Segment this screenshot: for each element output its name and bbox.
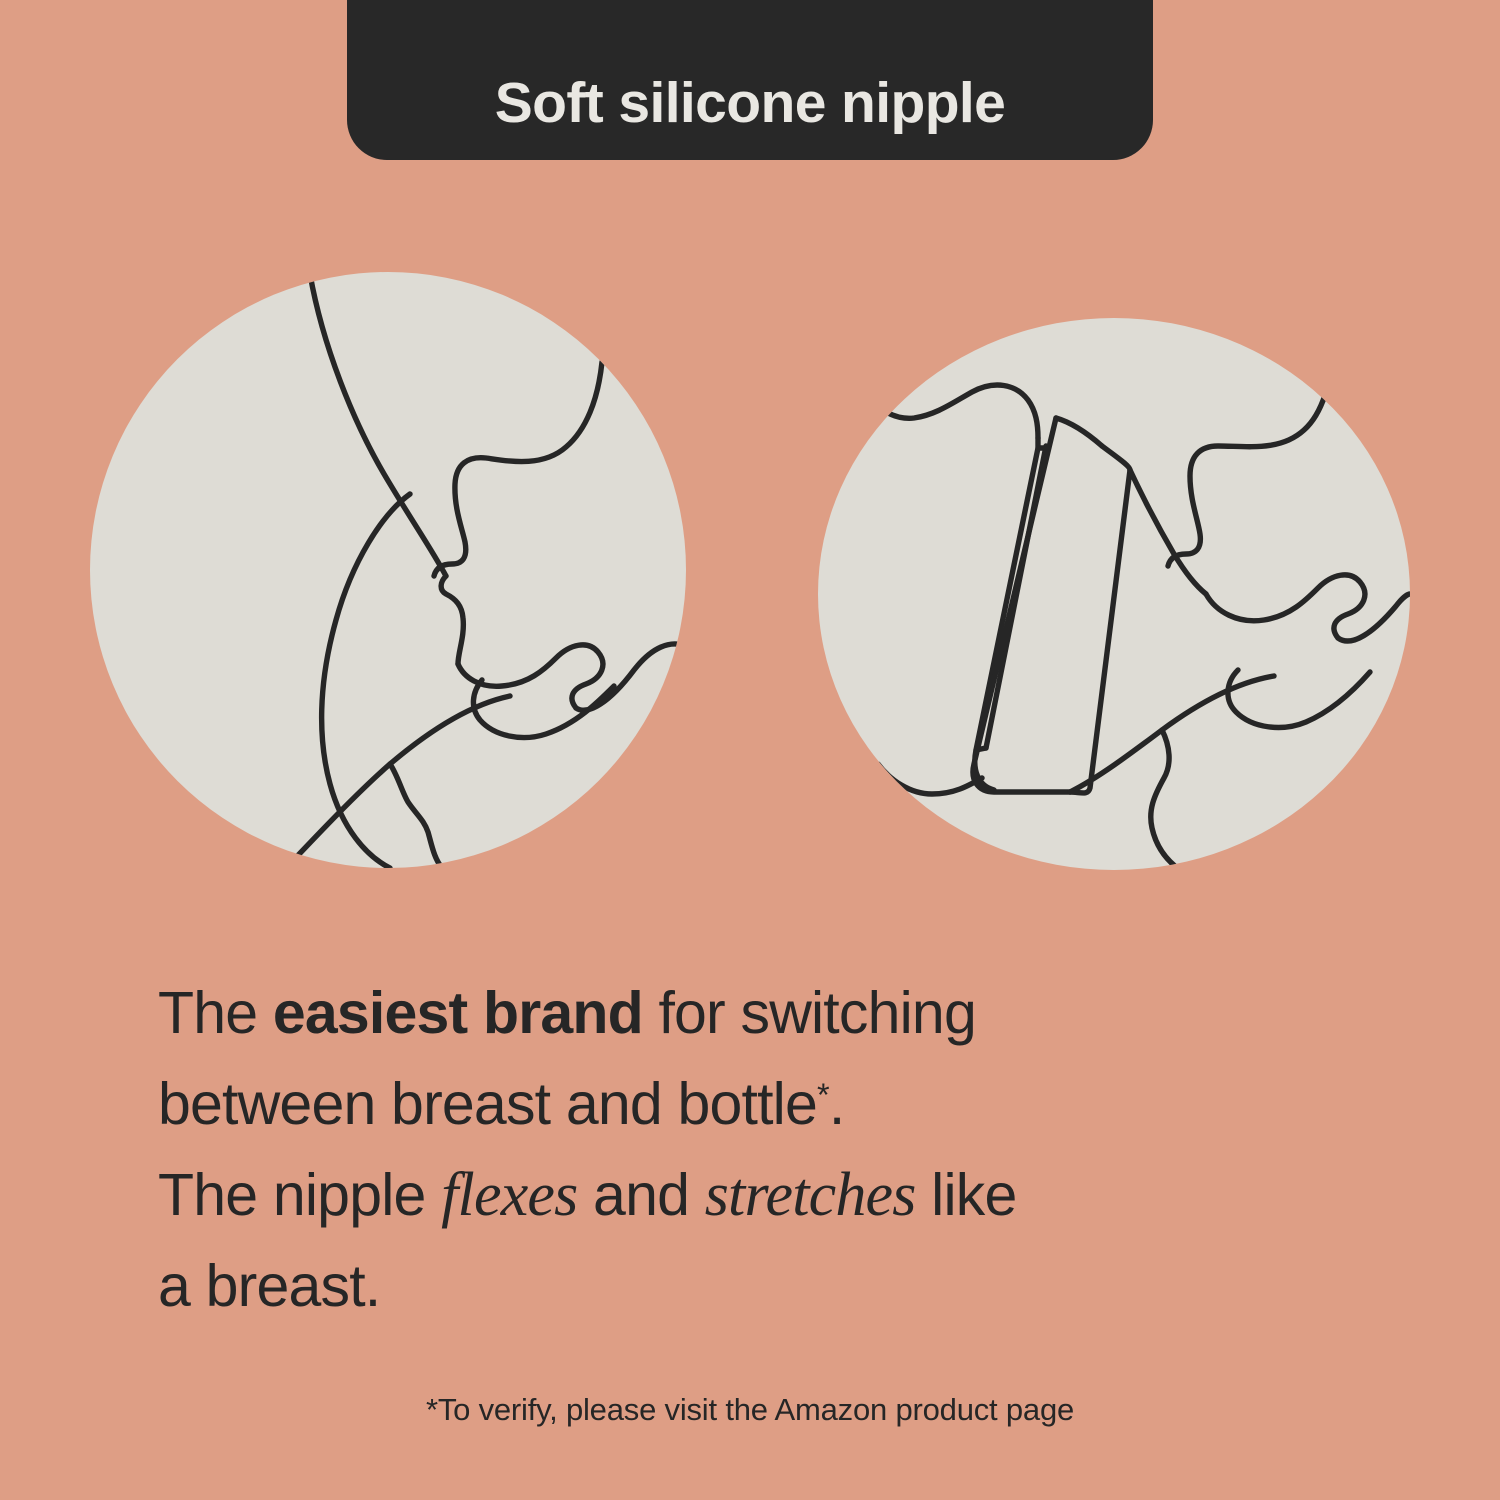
- footnote-marker: *: [817, 1077, 829, 1113]
- body-line-2: between breast and bottle*.: [158, 1059, 1358, 1150]
- body-line-3: The nipple flexes and stretches like: [158, 1150, 1358, 1241]
- body-line-1-prefix: The: [158, 980, 273, 1046]
- body-line-3-italic-stretches: stretches: [705, 1161, 916, 1229]
- breastfeeding-illustration: [90, 272, 686, 868]
- body-line-2-period: .: [829, 1071, 845, 1137]
- body-line-1-bold: easiest brand: [273, 980, 643, 1046]
- body-line-4: a breast.: [158, 1241, 1358, 1332]
- body-line-3-italic-flexes: flexes: [441, 1161, 577, 1229]
- bottlefeeding-illustration: [818, 318, 1410, 870]
- footnote-text: *To verify, please visit the Amazon prod…: [0, 1392, 1500, 1428]
- body-copy: The easiest brand for switching between …: [158, 968, 1358, 1332]
- header-banner: Soft silicone nipple: [347, 0, 1153, 160]
- promo-image: Soft silicone nipple: [0, 0, 1500, 1500]
- body-line-1: The easiest brand for switching: [158, 968, 1358, 1059]
- body-line-3-a: The nipple: [158, 1162, 441, 1228]
- body-line-1-suffix: for switching: [643, 980, 976, 1046]
- body-line-3-b: and: [577, 1162, 704, 1228]
- body-line-3-c: like: [916, 1162, 1017, 1228]
- page-title: Soft silicone nipple: [495, 75, 1006, 132]
- bottlefeeding-line-art: [818, 318, 1410, 870]
- breastfeeding-line-art: [90, 272, 686, 868]
- body-line-2-text: between breast and bottle: [158, 1071, 817, 1137]
